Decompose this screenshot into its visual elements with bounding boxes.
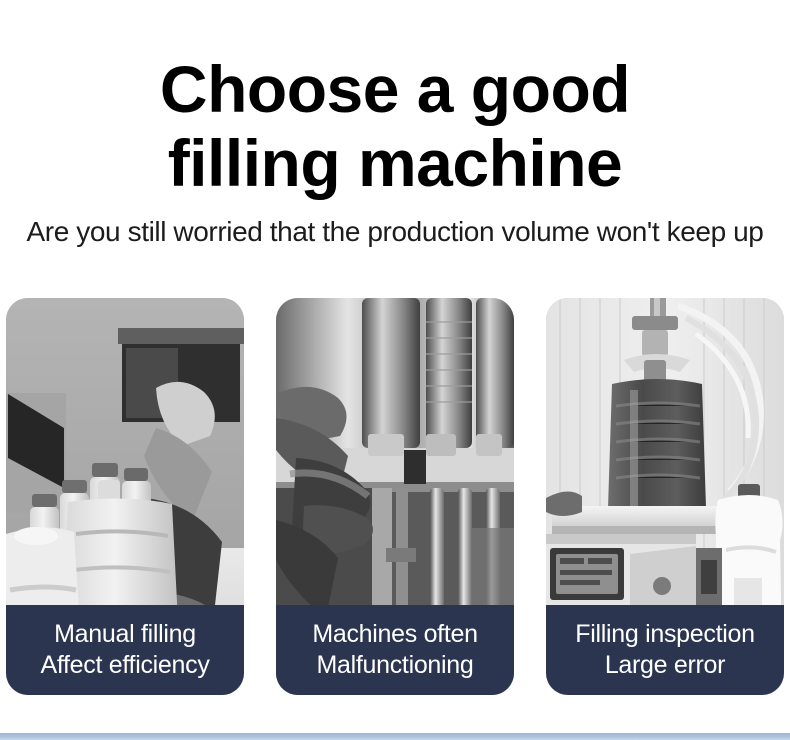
card-caption-line-2: Affect efficiency [40, 650, 209, 681]
promo-banner: Choose a good filling machine Are you st… [0, 0, 790, 740]
page-title: Choose a good filling machine [0, 52, 790, 200]
problem-card-manual-filling[interactable]: Manual filling Affect efficiency [6, 298, 244, 695]
problem-card-filling-inspection[interactable]: Filling inspection Large error [546, 298, 784, 695]
card-caption-line-1: Manual filling [54, 619, 196, 650]
card-caption: Machines often Malfunctioning [276, 605, 514, 695]
card-caption-line-2: Malfunctioning [316, 650, 473, 681]
card-caption: Filling inspection Large error [546, 605, 784, 695]
page-title-line-2: filling machine [0, 126, 790, 200]
problem-card-machine-malfunction[interactable]: Machines often Malfunctioning [276, 298, 514, 695]
problem-card-list: Manual filling Affect efficiency [6, 298, 784, 695]
card-caption-line-2: Large error [605, 650, 725, 681]
card-caption-line-1: Filling inspection [575, 619, 754, 650]
page-title-line-1: Choose a good [0, 52, 790, 126]
page-subtitle: Are you still worried that the productio… [0, 213, 790, 251]
card-caption-line-1: Machines often [312, 619, 477, 650]
card-caption: Manual filling Affect efficiency [6, 605, 244, 695]
bottom-accent-strip [0, 733, 790, 740]
